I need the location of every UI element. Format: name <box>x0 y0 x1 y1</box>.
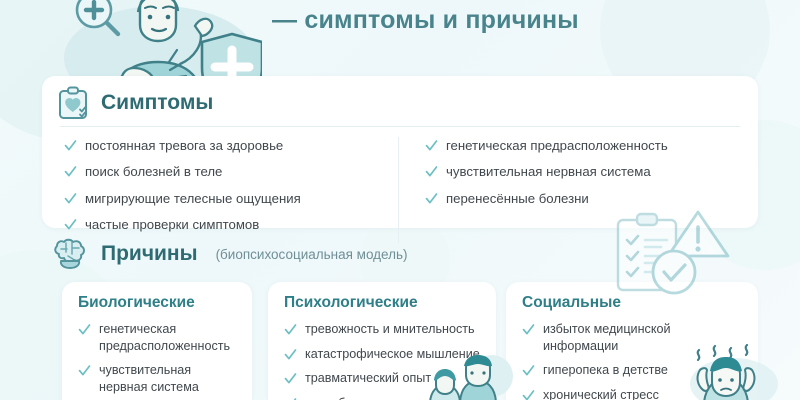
page-title: — симптомы и причины <box>272 6 579 35</box>
list-item: генетическая предрасположенность <box>78 321 240 354</box>
list-item: катастрофическое мышление <box>284 346 484 363</box>
list-item-label: хронический стресс <box>543 387 659 400</box>
list-item: перенесённые болезни <box>425 190 744 207</box>
biological-list: генетическая предрасположенность чувстви… <box>78 321 240 395</box>
check-icon <box>425 192 438 205</box>
column-title: Социальные <box>522 294 746 312</box>
list-item-label: постоянная тревога за здоровье <box>85 137 283 154</box>
causes-subtitle: (биопсихосоциальная модель) <box>216 247 408 262</box>
causes-column-psychological: Психологические тревожность и мнительнос… <box>268 282 496 400</box>
causes-column-social: Социальные избыток медицинской информаци… <box>506 282 758 400</box>
list-item-label: мигрирующие телесные ощущения <box>85 190 301 207</box>
list-item: тревожность и мнительность <box>284 321 484 338</box>
list-item-label: поиск болезней в теле <box>85 163 222 180</box>
list-item-label: частые проверки симптомов <box>85 216 259 233</box>
symptoms-left-list: постоянная тревога за здоровье поиск бол… <box>64 137 384 234</box>
check-icon <box>284 348 297 361</box>
check-icon <box>284 372 297 385</box>
list-item: генетическая предрасположенность <box>425 137 744 154</box>
list-item: избыток медицинской информации <box>522 321 746 354</box>
check-icon <box>522 389 535 400</box>
column-title: Психологические <box>284 294 484 312</box>
list-item: чувствительная нервная система <box>78 362 240 395</box>
list-item: травматический опыт <box>284 370 484 387</box>
check-icon <box>425 139 438 152</box>
check-icon <box>522 364 535 377</box>
list-item-label: тревожность и мнительность <box>305 321 475 338</box>
list-item: чувствительная нервная система <box>425 163 744 180</box>
check-icon <box>522 323 535 336</box>
check-icon <box>78 323 91 336</box>
symptoms-header: Симптомы <box>42 76 758 120</box>
causes-column-biological: Биологические генетическая предрасположе… <box>62 282 252 400</box>
symptoms-right-column: генетическая предрасположенность чувстви… <box>398 137 758 243</box>
list-item-label: катастрофическое мышление <box>305 346 480 363</box>
list-item-label: гиперопека в детстве <box>543 362 668 379</box>
check-icon <box>64 218 77 231</box>
check-icon <box>284 323 297 336</box>
symptoms-card: Симптомы постоянная тревога за здоровье … <box>42 76 758 228</box>
list-item-label: генетическая предрасположенность <box>446 137 668 154</box>
list-item-label: перенесённые болезни <box>446 190 589 207</box>
list-item-label: избыток медицинской информации <box>543 321 746 354</box>
list-item: частые проверки симптомов <box>64 216 384 233</box>
check-icon <box>64 165 77 178</box>
psychological-list: тревожность и мнительность катастрофичес… <box>284 321 484 400</box>
check-icon <box>64 192 77 205</box>
symptoms-title: Симптомы <box>101 91 213 115</box>
symptoms-left-column: постоянная тревога за здоровье поиск бол… <box>42 137 398 243</box>
social-list: избыток медицинской информации гиперопек… <box>522 321 746 400</box>
list-item-label: потребность <box>305 395 378 400</box>
list-item-label: генетическая предрасположенность <box>99 321 240 354</box>
list-item-label: чувствительная нервная система <box>99 362 240 395</box>
check-icon <box>425 165 438 178</box>
list-item: мигрирующие телесные ощущения <box>64 190 384 207</box>
list-item: хронический стресс <box>522 387 746 400</box>
symptoms-right-list: генетическая предрасположенность чувстви… <box>425 137 744 207</box>
list-item: поиск болезней в теле <box>64 163 384 180</box>
list-item-label: травматический опыт <box>305 370 431 387</box>
causes-title: Причины <box>101 242 198 266</box>
list-item: потребность <box>284 395 484 400</box>
clipboard-heart-icon <box>56 86 90 120</box>
check-icon <box>78 364 91 377</box>
list-item: гиперопека в детстве <box>522 362 746 379</box>
list-item: постоянная тревога за здоровье <box>64 137 384 154</box>
check-icon <box>64 139 77 152</box>
column-title: Биологические <box>78 294 240 312</box>
list-item-label: чувствительная нервная система <box>446 163 651 180</box>
brain-icon <box>52 238 90 270</box>
causes-header: Причины (биопсихосоциальная модель) <box>52 238 408 270</box>
